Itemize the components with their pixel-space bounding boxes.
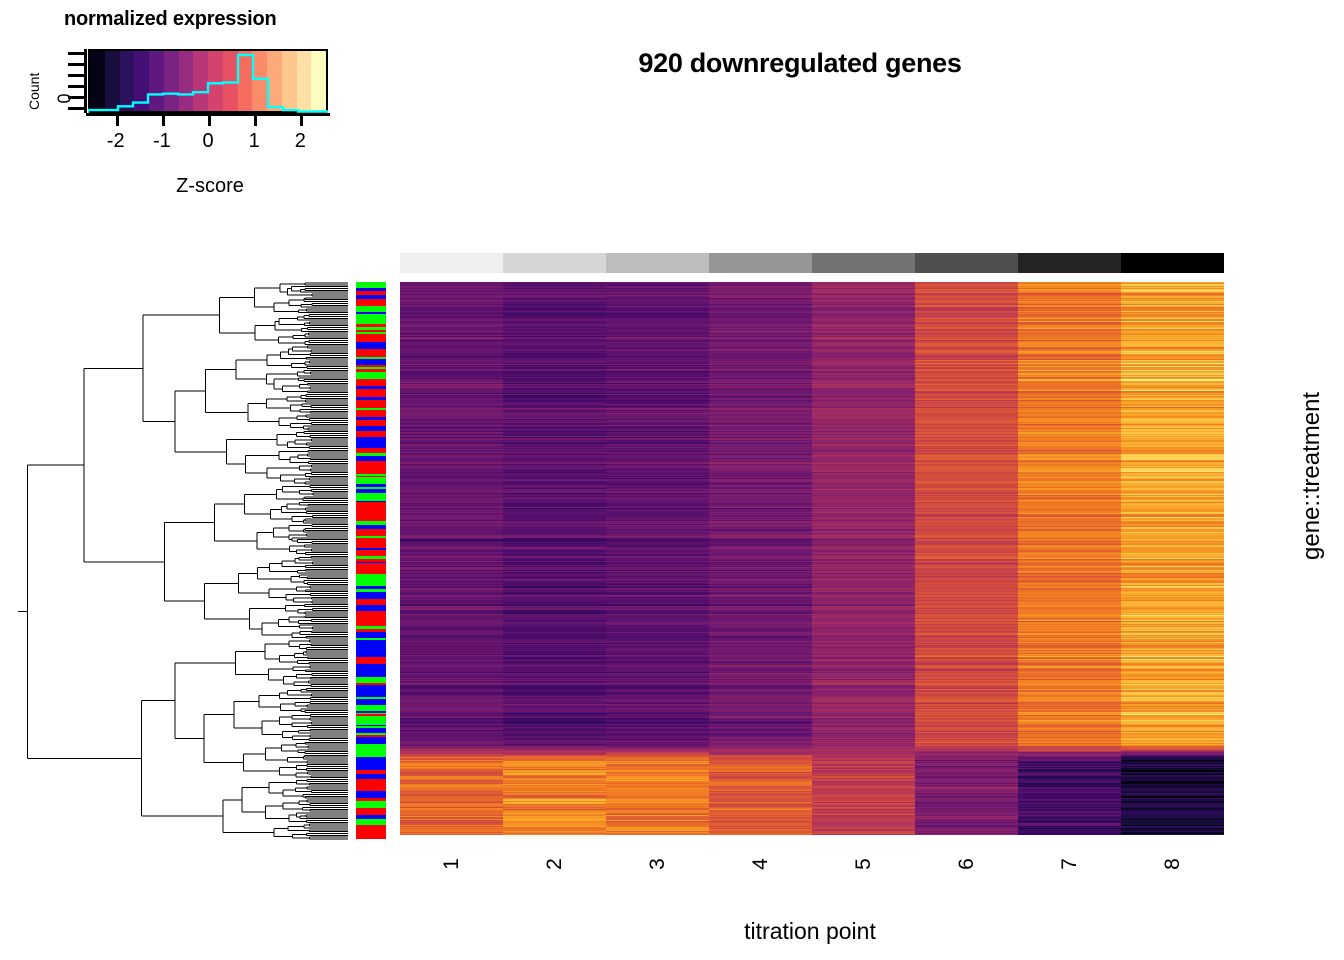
row-annotation-cell (356, 342, 386, 349)
column-annotation-cell (709, 253, 812, 273)
heatmap-column (709, 282, 812, 840)
column-annotation-cell (1121, 253, 1224, 273)
color-key-x-tick-label: -2 (96, 130, 136, 153)
heatmap-cell (709, 834, 812, 835)
column-annotation-cell (812, 253, 915, 273)
column-annotation-cell (503, 253, 606, 273)
heatmap-cell (915, 834, 1018, 835)
x-axis-tick-label: 4 (749, 851, 773, 877)
color-key-y-tick (68, 52, 84, 55)
row-dendrogram (18, 282, 348, 840)
row-annotation-cell (356, 782, 386, 790)
color-key-x-tick-label: 2 (280, 130, 320, 153)
color-key-x-tick (116, 113, 119, 126)
x-axis-tick-label: 7 (1058, 851, 1082, 877)
heatmap-column (1018, 282, 1121, 840)
heatmap-column (1121, 282, 1224, 840)
row-annotation-cell (356, 836, 386, 839)
x-axis-tick-label: 3 (646, 851, 670, 877)
column-annotation-cell (606, 253, 709, 273)
heatmap-cell (400, 834, 503, 835)
row-annotation-cell (356, 465, 386, 474)
color-key-y-tick (68, 63, 84, 66)
row-annotation-cell (356, 334, 386, 342)
column-annotation-cell (400, 253, 503, 273)
row-annotation-cell (356, 493, 386, 501)
row-annotation-cell (356, 410, 386, 417)
column-annotation-cell (915, 253, 1018, 273)
dendrogram-branches (18, 283, 348, 839)
row-annotation-cell (356, 716, 386, 723)
color-key-histogram (88, 49, 328, 113)
page-title: 920 downregulated genes (450, 48, 1150, 79)
row-annotation-cell (356, 616, 386, 625)
row-annotation-cell (356, 389, 386, 397)
color-key-x-tick (208, 113, 211, 126)
color-key-x-tick-label: 0 (188, 130, 228, 153)
x-axis-tick-label: 2 (543, 851, 567, 877)
row-annotation-cell (356, 808, 386, 815)
row-annotation-cell (356, 744, 386, 751)
color-key-count-label: Count (26, 15, 42, 52)
row-annotation-cell (356, 349, 386, 357)
color-key-y-tick (68, 107, 84, 110)
color-key-x-tick-label: 1 (234, 130, 274, 153)
x-axis-title: titration point (610, 918, 1010, 945)
color-key: normalized expression Count 0 -2-1012 Z-… (0, 0, 390, 215)
color-key-x-tick (300, 113, 303, 126)
x-axis-tick-label: 6 (955, 851, 979, 877)
color-key-x-tick (162, 113, 165, 126)
heatmap-cell (606, 834, 709, 835)
color-key-x-axis-title: Z-score (110, 175, 310, 198)
heatmap-column (915, 282, 1018, 840)
row-annotation-cell (356, 657, 386, 664)
heatmap-column (400, 282, 503, 840)
column-annotation-cell (1018, 253, 1121, 273)
color-key-y-tick (68, 85, 84, 88)
color-key-y-tick (68, 96, 84, 99)
column-annotation-bar (400, 253, 1224, 273)
color-key-title: normalized expression (64, 8, 404, 31)
heatmap-cell (1121, 834, 1224, 835)
row-annotation-cell (356, 737, 386, 744)
color-key-x-tick (254, 113, 257, 126)
x-axis-tick-label: 5 (852, 851, 876, 877)
heatmap-column (606, 282, 709, 840)
color-key-x-tick-label: -1 (142, 130, 182, 153)
heatmap-grid (400, 282, 1224, 840)
row-annotation-cell (356, 685, 386, 692)
row-annotation-bar (356, 282, 386, 840)
heatmap-column (503, 282, 606, 840)
x-axis-tick-label: 8 (1161, 851, 1185, 877)
color-key-histogram-line (88, 55, 328, 113)
color-key-count-text: Count (26, 73, 42, 110)
color-key-y-tick (68, 74, 84, 77)
y-axis-title: gene::treatment (1298, 392, 1326, 560)
x-axis-tick-label: 1 (440, 851, 464, 877)
row-annotation-cell (356, 592, 386, 599)
heatmap-cell (1018, 834, 1121, 835)
heatmap-cell (503, 834, 606, 835)
heatmap-cell (812, 834, 915, 835)
heatmap-column (812, 282, 915, 840)
color-key-y-axis (84, 49, 87, 113)
